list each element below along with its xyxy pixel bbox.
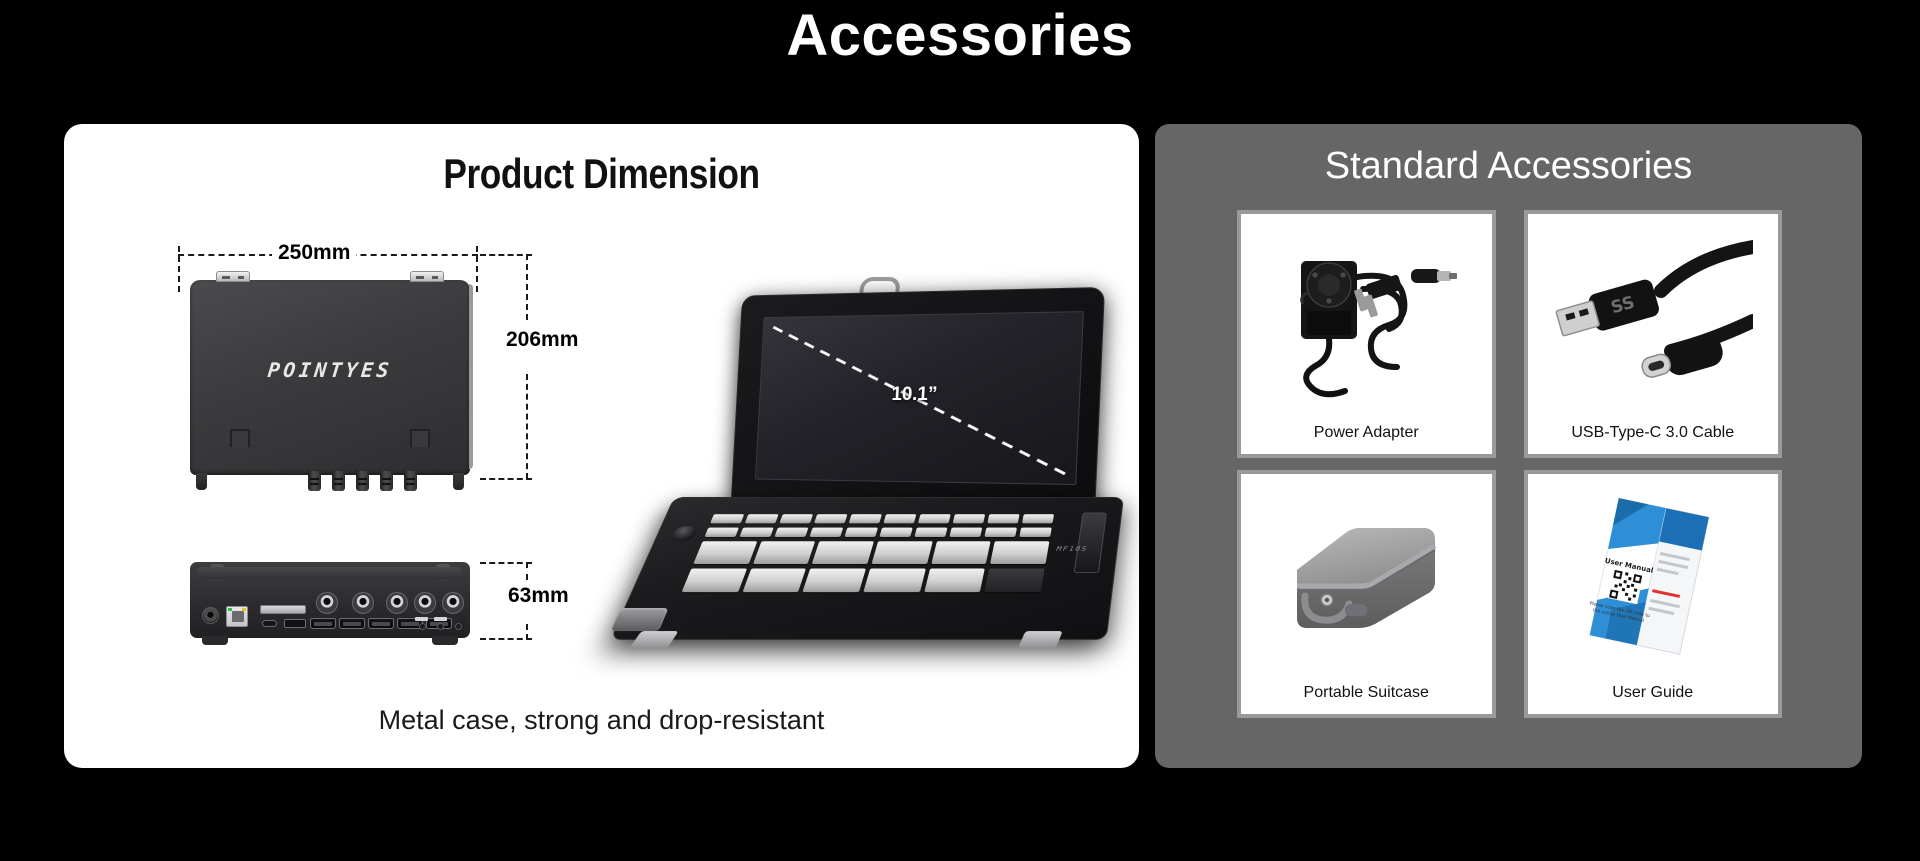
model-label: MF10S — [1055, 545, 1089, 552]
hdmi-port-icon — [310, 618, 336, 629]
console-key — [849, 514, 882, 523]
user-guide-icon: User Manual — [1528, 482, 1779, 674]
accessory-card-power-adapter[interactable]: Power Adapter — [1237, 210, 1496, 458]
console-key — [984, 528, 1017, 537]
sd-card-slot-icon — [260, 605, 306, 614]
screw-icon — [437, 623, 444, 630]
console-key — [844, 528, 878, 537]
console-key — [1022, 514, 1054, 523]
rear-foot-right — [432, 636, 458, 645]
lan-led-green — [228, 608, 232, 611]
accessory-card-usb-cable[interactable]: SS USB-Type-C 3.0 Cable — [1524, 210, 1783, 458]
bnc-connector — [308, 471, 321, 491]
power-adapter-icon — [1241, 222, 1492, 414]
standard-accessories-title: Standard Accessories — [1155, 140, 1862, 192]
lan-led-yellow — [242, 608, 246, 611]
screw-icon — [419, 623, 426, 630]
brand-logo: POINTYES — [189, 358, 472, 382]
console-key — [987, 514, 1019, 523]
bnc-connector — [332, 471, 345, 491]
console-key — [710, 514, 744, 523]
console-key — [809, 528, 843, 537]
dim-line-height-lower — [526, 374, 528, 479]
dimension-drawing: 250mm 206mm 63mm POINTYES — [130, 232, 600, 692]
dim-line-height-upper — [526, 254, 528, 320]
dim-line-depth-upper — [526, 562, 528, 580]
hinge-right-icon — [410, 271, 444, 282]
hinge-left-icon — [216, 271, 250, 282]
product-photo: 10.1” MF10S — [664, 269, 1134, 689]
product-lid: 10.1” — [730, 287, 1105, 518]
console-key — [879, 528, 912, 537]
dim-label-depth: 63mm — [502, 584, 575, 608]
bnc-connector — [356, 471, 369, 491]
console-key — [883, 514, 916, 523]
dim-line-depth-lower — [526, 624, 528, 640]
dim-ext-depth-top — [480, 562, 532, 564]
console-key-preview — [863, 568, 925, 592]
dim-tick-left — [178, 246, 180, 292]
hdmi-port-icon — [339, 618, 365, 629]
bnc-connector — [380, 471, 393, 491]
console-key-program — [872, 541, 933, 564]
hdmi-port-icon — [368, 618, 394, 629]
console-key — [739, 528, 773, 537]
toggle-switch-icon — [434, 617, 447, 621]
console-key — [953, 514, 986, 523]
dim-label-height: 206mm — [500, 328, 584, 352]
case-top-view: POINTYES — [190, 280, 470, 475]
rear-panel-body — [190, 562, 470, 638]
base-foot-right — [1018, 631, 1063, 649]
console-key — [704, 528, 739, 537]
product-console-base: MF10S — [610, 497, 1124, 640]
key-row — [682, 568, 1045, 592]
bnc-port-icon — [442, 592, 464, 614]
accessory-card-suitcase[interactable]: Portable Suitcase — [1237, 470, 1496, 718]
dim-ext-bottom — [480, 478, 532, 480]
screw-icon — [455, 623, 462, 630]
side-slot — [1074, 513, 1107, 573]
console-key — [774, 528, 808, 537]
product-dimension-title: Product Dimension — [150, 150, 1053, 198]
key-row — [710, 514, 1054, 523]
screen-size-label: 10.1” — [891, 384, 938, 406]
dim-ext-depth-bottom — [480, 638, 532, 640]
bnc-port-icon — [316, 592, 338, 614]
console-key — [779, 514, 813, 523]
console-key-program — [753, 541, 816, 564]
accessory-label: User Guide — [1612, 684, 1693, 702]
console-key-ftb — [924, 568, 985, 592]
dc-power-port-icon — [202, 607, 219, 624]
rear-top-lip — [198, 567, 462, 579]
case-leg-left — [196, 473, 207, 490]
console-key — [1019, 528, 1051, 537]
control-keys — [671, 514, 1054, 617]
console-key — [949, 528, 982, 537]
case-leg-right — [453, 473, 464, 490]
case-rear-view — [190, 562, 470, 638]
usb-cable-icon: SS — [1528, 222, 1779, 414]
page-title: Accessories — [0, 2, 1920, 70]
joystick-icon — [670, 526, 699, 541]
accessories-page: Accessories Product Dimension 250mm 206m… — [0, 0, 1920, 861]
console-key — [745, 514, 779, 523]
accessory-label: Portable Suitcase — [1304, 684, 1429, 702]
rear-foot-left — [202, 636, 228, 645]
case-tab-left — [230, 429, 250, 447]
case-tab-right — [410, 429, 430, 447]
console-key-auto — [990, 541, 1049, 564]
console-key-preview — [803, 568, 866, 592]
dim-tick-right — [476, 246, 478, 292]
dim-ext-top — [480, 254, 532, 256]
base-foot-left — [629, 631, 679, 649]
key-row — [693, 541, 1049, 564]
accessories-grid: Power Adapter SS — [1237, 210, 1782, 718]
bnc-port-icon — [414, 592, 436, 614]
bnc-connector-row — [308, 471, 417, 491]
bnc-port-icon — [352, 592, 374, 614]
accessory-label: Power Adapter — [1314, 424, 1419, 442]
suitcase-icon — [1241, 482, 1492, 674]
dim-label-width: 250mm — [272, 241, 356, 265]
console-key — [918, 514, 951, 523]
standard-accessories-panel: Standard Accessories — [1155, 124, 1862, 768]
usb-c-port-icon — [262, 620, 277, 627]
console-key — [914, 528, 947, 537]
console-key — [814, 514, 848, 523]
console-key-cut — [931, 541, 991, 564]
bnc-connector — [404, 471, 417, 491]
console-key-preview — [682, 568, 747, 592]
key-row — [704, 528, 1051, 537]
bnc-port-icon — [386, 592, 408, 614]
toggle-switch-icon — [415, 617, 428, 621]
console-key-aux — [984, 568, 1044, 592]
micro-usb-port-icon — [284, 619, 306, 628]
product-screen: 10.1” — [755, 311, 1084, 485]
console-key-program — [693, 541, 757, 564]
t-bar-fader — [611, 608, 669, 631]
product-dimension-caption: Metal case, strong and drop-resistant — [64, 705, 1139, 736]
lan-port-icon — [226, 606, 248, 627]
accessory-label: USB-Type-C 3.0 Cable — [1571, 424, 1734, 442]
console-key-preview — [742, 568, 806, 592]
console-key-program — [812, 541, 874, 564]
accessory-card-user-guide[interactable]: User Manual — [1524, 470, 1783, 718]
product-dimension-panel: Product Dimension 250mm 206mm 63mm — [64, 124, 1139, 768]
